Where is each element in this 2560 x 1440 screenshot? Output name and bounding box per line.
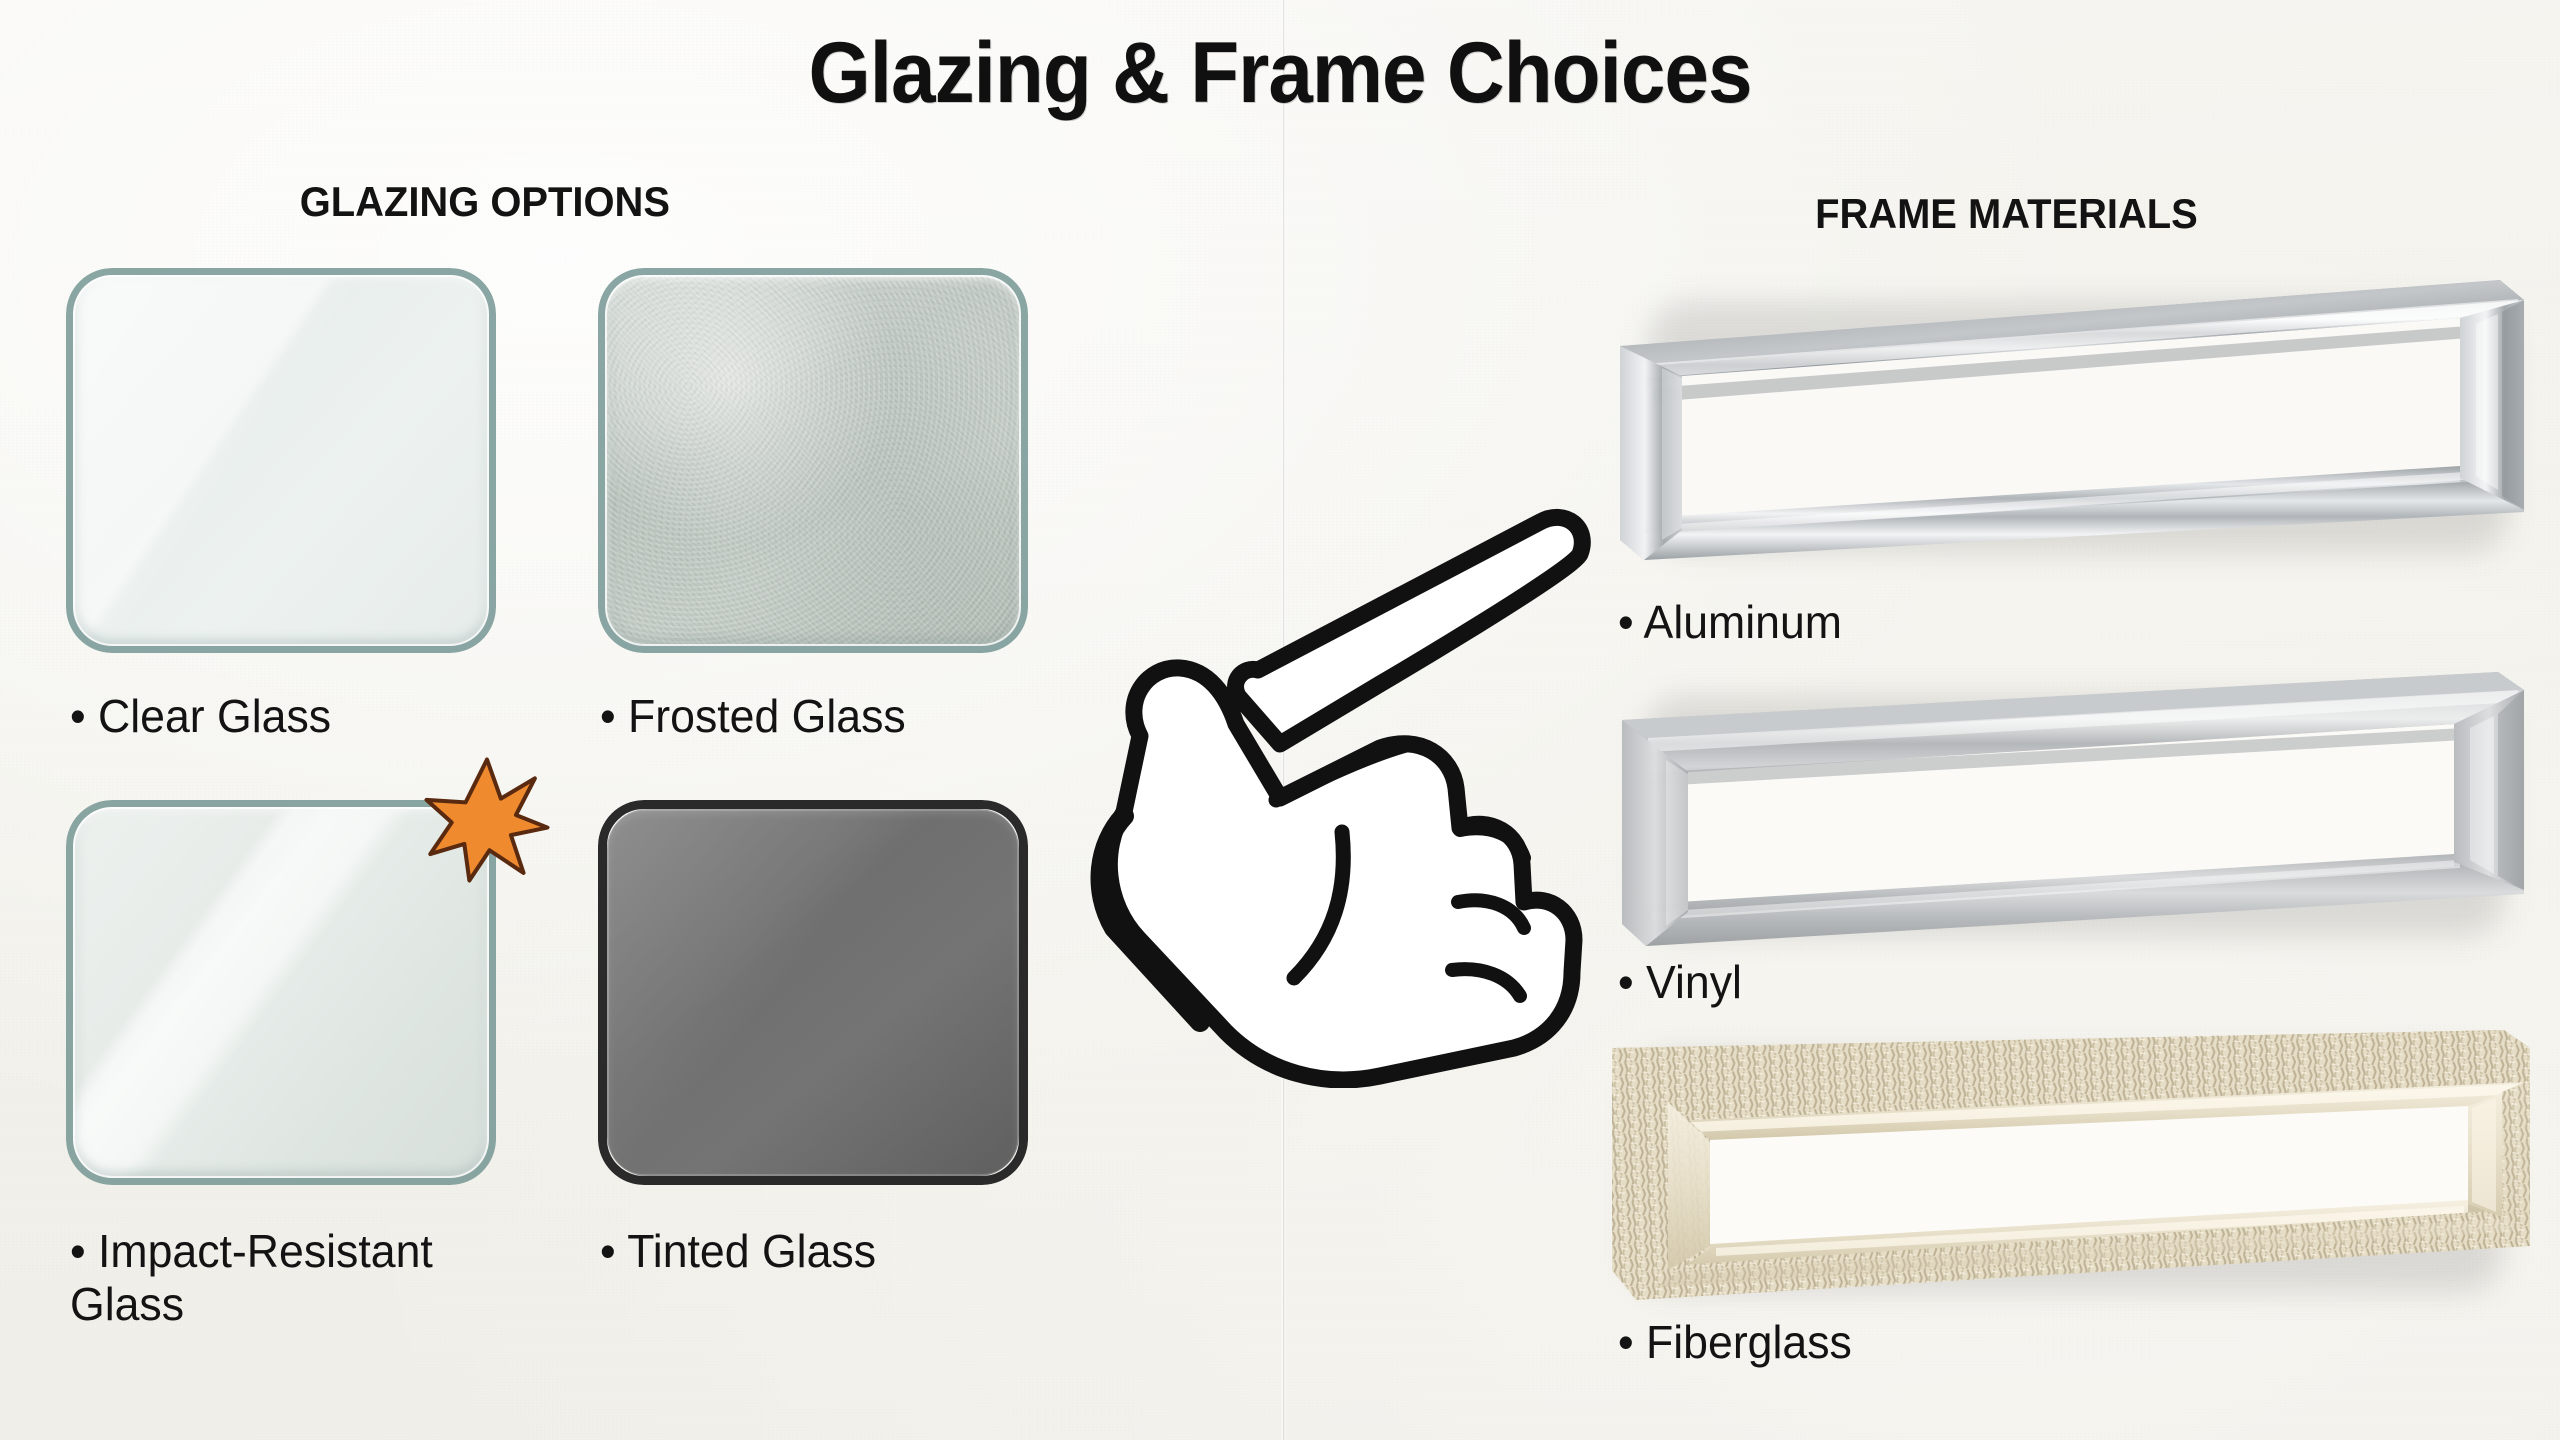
page-title: Glazing & Frame Choices [90, 24, 2471, 123]
swatch-bevel-edge [598, 268, 1028, 653]
vinyl-frame-graphic [1618, 668, 2528, 958]
glazing-label-frosted-glass: • Frosted Glass [600, 690, 906, 743]
fiberglass-frame-graphic [1606, 1022, 2536, 1312]
frame-label-vinyl: • Vinyl [1618, 955, 1742, 1009]
glazing-label-impact-resistant-glass: • Impact-Resistant Glass [70, 1225, 536, 1331]
infographic-page: Glazing & Frame Choices GLAZING OPTIONS … [0, 0, 2560, 1440]
glass-swatch-clear[interactable] [66, 268, 496, 653]
aluminum-frame-graphic [1618, 268, 2528, 568]
section-heading-glazing: GLAZING OPTIONS [300, 178, 670, 226]
frame-label-aluminum: • Aluminum [1618, 595, 1842, 649]
frame-label-fiberglass: • Fiberglass [1618, 1315, 1852, 1369]
frame-sample-fiberglass[interactable] [1606, 1022, 2536, 1312]
glass-swatch-tinted[interactable] [598, 800, 1028, 1185]
frame-sample-aluminum[interactable] [1618, 268, 2528, 568]
glass-swatch-frosted[interactable] [598, 268, 1028, 653]
glazing-label-clear-glass: • Clear Glass [70, 690, 331, 743]
starburst-icon [424, 757, 550, 883]
glazing-label-tinted-glass: • Tinted Glass [600, 1225, 876, 1278]
swatch-bevel-edge [598, 800, 1028, 1185]
frame-sample-vinyl[interactable] [1618, 668, 2528, 958]
pointing-hand-icon [1080, 498, 1600, 1088]
swatch-bevel-edge [66, 268, 496, 653]
section-heading-frames: FRAME MATERIALS [1815, 190, 2198, 238]
